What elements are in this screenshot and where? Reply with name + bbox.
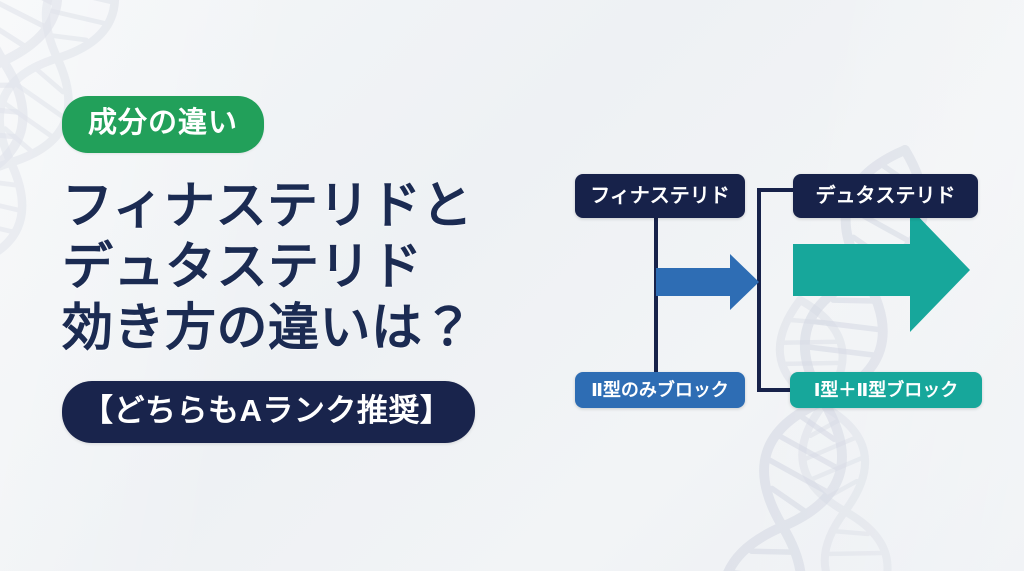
node-type2-block: Ⅱ型のみブロック	[575, 372, 745, 408]
node-dutasteride: デュタステリド	[793, 174, 978, 218]
slide-root: 成分の違い フィナステリドと デュタステリド 効き方の違いは？ 【どちらもAラン…	[0, 0, 1024, 571]
node-type1-type2-block: Ⅰ型＋Ⅱ型ブロック	[790, 372, 982, 408]
node-finasteride: フィナステリド	[575, 174, 745, 218]
headline-line-1: フィナステリドと	[62, 175, 582, 236]
left-content-column: 成分の違い フィナステリドと デュタステリド 効き方の違いは？ 【どちらもAラン…	[62, 96, 582, 443]
eyebrow-badge: 成分の違い	[62, 96, 264, 153]
dutasteride-arrow-icon	[793, 208, 970, 332]
headline-line-3: 効き方の違いは？	[62, 297, 582, 358]
recommendation-badge: 【どちらもAランク推奨】	[62, 381, 475, 443]
finasteride-arrow-icon	[656, 254, 759, 310]
page-title: フィナステリドと デュタステリド 効き方の違いは？	[62, 175, 582, 359]
headline-line-2: デュタステリド	[62, 236, 582, 297]
mechanism-diagram: フィナステリド デュタステリド Ⅱ型のみブロック Ⅰ型＋Ⅱ型ブロック	[560, 160, 990, 420]
